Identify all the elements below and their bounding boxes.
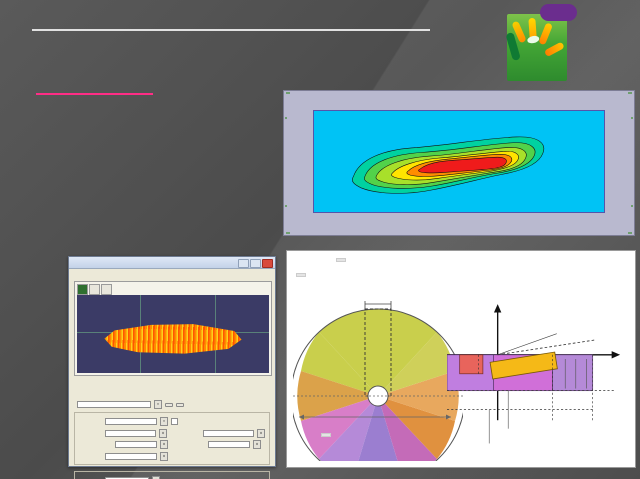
title-underline [32,29,430,31]
reflector-outline [100,321,246,355]
caa-v5-badge [540,4,577,21]
points-view-icon[interactable] [101,284,112,295]
length-end-stepper[interactable]: ⬍ [253,440,261,449]
contour-y-axis-right [606,110,620,213]
group-row: ▾ [69,398,275,409]
length-row: ⬍ ⬍ [79,440,265,449]
subtitle [36,92,153,95]
tilt-row: ⬍ [79,452,265,461]
dialog-tab-bar[interactable] [69,269,275,273]
set-elements-button[interactable] [176,403,184,407]
length-start-input[interactable] [115,441,157,448]
slide: ▾ ▾ ⬍ ⬍ [0,0,640,479]
y-center-input[interactable] [203,430,254,437]
focal-row: ⬍ [79,476,265,479]
technical-drawing-panel [286,250,636,468]
x-center-stepper[interactable]: ⬍ [159,429,167,438]
x-center-input[interactable] [105,430,156,437]
contour-corner-top-right [628,92,632,94]
contour-side-right-upper [631,117,633,119]
wireframe-view-icon[interactable] [89,284,100,295]
shaded-view-icon[interactable] [77,284,88,295]
contour-plot-canvas [313,110,605,213]
contour-corner-bottom-right [628,232,632,234]
y-center-stepper[interactable]: ⬍ [257,429,265,438]
reflector-3d-canvas[interactable] [77,295,269,373]
page-title [32,26,462,31]
disc-segments [297,309,458,461]
contour-y-axis-left [298,110,312,213]
dim-150mm-arrow [295,411,455,431]
contour-x-axis-top [313,102,605,109]
maximize-icon[interactable] [250,259,261,268]
source-h11-tag [336,258,346,262]
type-row: ▾ [79,417,265,426]
beam-specification-fieldset: ▾ ⬍ ⬍ ⬍ ⬍ [74,412,270,465]
focal-range-tag [321,433,331,437]
window-controls[interactable] [238,259,273,268]
close-icon[interactable] [262,259,273,268]
contour-side-right-lower [631,205,633,207]
dialog-titlebar[interactable] [69,257,275,269]
type-select[interactable] [105,418,157,425]
elements-viewport-panel[interactable] [74,281,272,376]
viewport-toolbar[interactable] [75,282,271,296]
contour-plot-panel [283,90,635,236]
source-h7-tag [296,273,306,277]
length-start-stepper[interactable]: ⬍ [160,440,168,449]
optical-surface-definition-dialog[interactable]: ▾ ▾ ⬍ ⬍ [68,256,276,467]
contour-side-left-upper [285,117,287,119]
target-axis-diagram [447,293,636,463]
contour-corner-top-left [286,92,290,94]
tilt-input[interactable] [105,453,157,460]
tilt-stepper[interactable]: ⬍ [160,452,168,461]
contour-x-axis-bottom [313,216,605,223]
subtitle-underline [36,93,153,95]
contour-side-left-lower [285,205,287,207]
center-row: ⬍ ⬍ [79,429,265,438]
focal-stepper[interactable]: ⬍ [152,476,160,479]
type-chevron-down-icon[interactable]: ▾ [160,417,168,426]
speos-logo [500,4,578,84]
reflector-disc-diagram [293,301,463,461]
length-end-input[interactable] [208,441,250,448]
chevron-down-icon[interactable]: ▾ [154,400,162,409]
group-select[interactable] [77,401,151,408]
create-group-button[interactable] [165,403,173,407]
contour-corner-bottom-left [286,232,290,234]
support-fieldset: ⬍ [74,471,270,479]
contour-levels-svg [314,111,604,212]
minimize-icon[interactable] [238,259,249,268]
alternative-algorithm-checkbox[interactable] [171,418,178,425]
